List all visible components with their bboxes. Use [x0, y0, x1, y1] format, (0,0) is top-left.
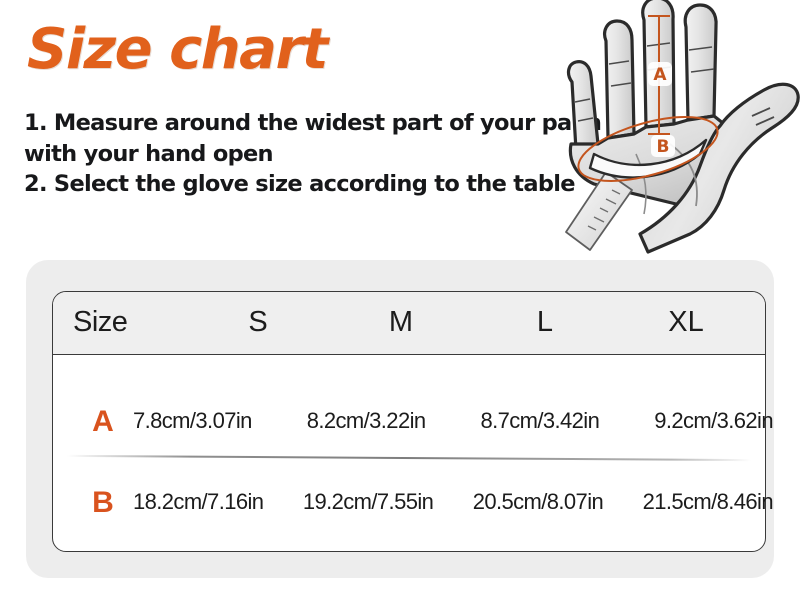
page-title: Size chart [27, 22, 327, 78]
ring-finger [605, 21, 634, 138]
table-row-label-b: B [77, 488, 129, 518]
cell-a-l: 8.7cm/3.42in [480, 410, 599, 432]
instruction-line-3: 2. Select the glove size according to th… [24, 169, 569, 200]
cell-a-m: 8.2cm/3.22in [307, 410, 426, 432]
table-row-label-a: A [77, 407, 129, 437]
table-header-col-xl: XL [631, 308, 741, 337]
table-row: 18.2cm/7.16in 19.2cm/7.55in 20.5cm/8.07i… [133, 491, 773, 513]
cell-b-s: 18.2cm/7.16in [133, 491, 263, 513]
cell-b-l: 20.5cm/8.07in [473, 491, 603, 513]
table-row-divider [67, 455, 751, 461]
cell-a-s: 7.8cm/3.07in [133, 410, 252, 432]
cell-b-xl: 21.5cm/8.46in [643, 491, 773, 513]
cell-a-xl: 9.2cm/3.62in [654, 410, 773, 432]
size-table: Size S M L XL A 7.8cm/3.07in 8.2cm/3.22i… [52, 291, 766, 552]
instructions-block: 1. Measure around the widest part of you… [24, 108, 569, 200]
table-header-size: Size [73, 308, 127, 337]
index-finger [685, 5, 716, 120]
instruction-line-1: 1. Measure around the widest part of you… [24, 108, 569, 139]
measure-a-label: A [653, 65, 667, 85]
hand-illustration: B A [528, 0, 800, 262]
table-header-col-m: M [346, 308, 456, 337]
pinky-finger [569, 62, 598, 150]
table-header-col-l: L [490, 308, 600, 337]
cell-b-m: 19.2cm/7.55in [303, 491, 433, 513]
measuring-tape-tail [566, 172, 632, 250]
instruction-line-2: with your hand open [24, 139, 569, 170]
table-header-col-s: S [203, 308, 313, 337]
measure-b-label: B [657, 137, 670, 157]
table-row: 7.8cm/3.07in 8.2cm/3.22in 8.7cm/3.42in 9… [133, 410, 773, 432]
table-header-row: Size S M L XL [53, 292, 765, 355]
